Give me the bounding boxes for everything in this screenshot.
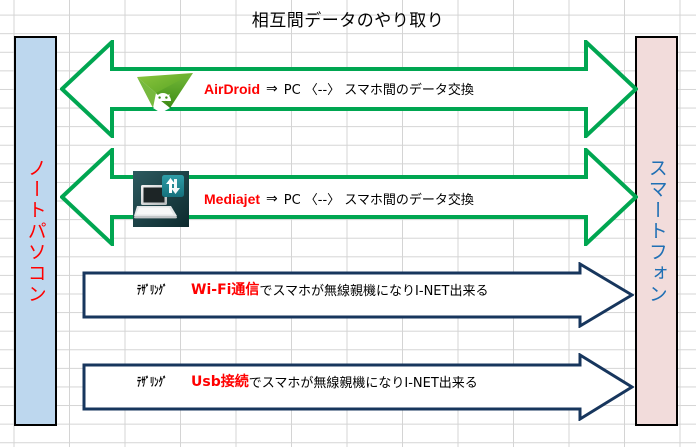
endpoint-box-note-pc: ノートパソコン	[14, 36, 57, 426]
laptop-transfer-icon	[133, 171, 189, 227]
paper-plane-android-icon	[134, 68, 196, 116]
arrow-label-mediajet: Mediajet ⇒ PC 〈--〉 スマホ間のデータ交換	[204, 189, 474, 208]
arrow-label-tethering-wifi: ﾃｻﾞﾘﾝｸﾞ Wi-Fi通信 でスマホが無線親機になりI-NET出来る	[137, 279, 488, 299]
arrow-desc-tethering-wifi: でスマホが無線親機になりI-NET出来る	[259, 280, 488, 299]
arrow-desc-airdroid: PC 〈--〉 スマホ間のデータ交換	[284, 79, 474, 98]
arrow-desc-mediajet: PC 〈--〉 スマホ間のデータ交換	[284, 189, 474, 208]
tethering-prefix-usb: ﾃｻﾞﾘﾝｸﾞ	[137, 373, 167, 390]
endpoint-label-smartphone: スマートフォン	[646, 158, 667, 305]
app-name-airdroid: AirDroid	[204, 81, 260, 97]
arrow-desc-tethering-usb: でスマホが無線親機になりI-NET出来る	[249, 372, 478, 391]
separator-airdroid: ⇒	[266, 81, 278, 97]
endpoint-box-smartphone: スマートフォン	[635, 36, 678, 426]
arrow-label-tethering-usb: ﾃｻﾞﾘﾝｸﾞ Usb接続 でスマホが無線親機になりI-NET出来る	[137, 371, 478, 391]
separator-mediajet: ⇒	[266, 191, 278, 207]
diagram-canvas: 相互間データのやり取り ノートパソコン スマートフォン	[0, 0, 696, 447]
arrow-label-airdroid: AirDroid ⇒ PC 〈--〉 スマホ間のデータ交換	[204, 79, 474, 98]
tethering-highlight-usb: Usb接続	[191, 371, 249, 391]
app-name-mediajet: Mediajet	[204, 191, 260, 207]
tethering-prefix-wifi: ﾃｻﾞﾘﾝｸﾞ	[137, 281, 167, 298]
page-title: 相互間データのやり取り	[0, 6, 696, 31]
endpoint-label-note-pc: ノートパソコン	[25, 158, 46, 305]
tethering-highlight-wifi: Wi-Fi通信	[191, 279, 259, 299]
